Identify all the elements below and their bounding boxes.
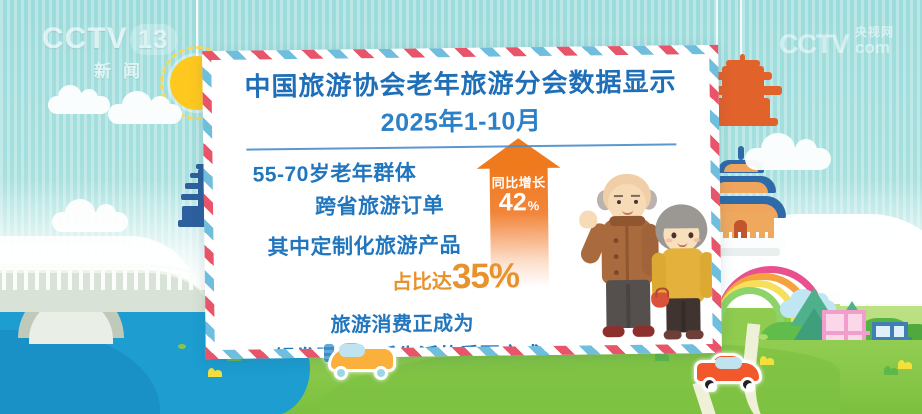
cloud (48, 96, 110, 114)
cctv-com-watermark: CCTV 央视网 com (724, 26, 894, 68)
cloud (52, 212, 128, 232)
cloud (108, 104, 182, 124)
grass-detail (178, 344, 186, 349)
cctv-wordmark: CCTV (42, 22, 128, 55)
page-subtitle: 2025年1-10月 (212, 99, 710, 141)
watermark-cn-name: 央视网 (855, 26, 894, 39)
infographic-canvas: 中国旅游协会老年旅游分会数据显示 2025年1-10月 同比增长 42% 55-… (0, 0, 922, 414)
stone-bridge-icon (0, 250, 230, 330)
cloud (745, 148, 831, 170)
percent-value: 35% (452, 256, 520, 296)
cctv-wordmark: CCTV (779, 29, 849, 60)
grass-tuft-yellow (898, 360, 912, 369)
title-divider (246, 143, 676, 150)
envelope-card: 中国旅游协会老年旅游分会数据显示 2025年1-10月 同比增长 42% 55-… (202, 45, 722, 359)
watermark-domain: com (855, 39, 894, 56)
car-icon (688, 352, 766, 392)
card-content: 中国旅游协会老年旅游分会数据显示 2025年1-10月 同比增长 42% 55-… (211, 54, 713, 350)
grass-detail (758, 334, 768, 340)
grass-tuft (884, 366, 898, 375)
card-title-block: 中国旅游协会老年旅游分会数据显示 2025年1-10月 (211, 54, 710, 151)
channel-subtitle: 新闻 (42, 57, 192, 82)
cloud (120, 248, 176, 264)
percent-label: 占比达 (392, 271, 452, 294)
elderly-couple-illustration (585, 167, 713, 344)
grass-tuft-yellow (208, 368, 222, 377)
handbag-icon (651, 292, 669, 307)
waving-hand (579, 210, 597, 228)
page-title: 中国旅游协会老年旅游分会数据显示 (211, 66, 709, 103)
cctv13-channel-logo: CCTV13 新闻 (42, 22, 192, 80)
car-icon (322, 340, 400, 380)
elderly-woman-figure (647, 200, 713, 343)
channel-number: 13 (130, 24, 177, 55)
